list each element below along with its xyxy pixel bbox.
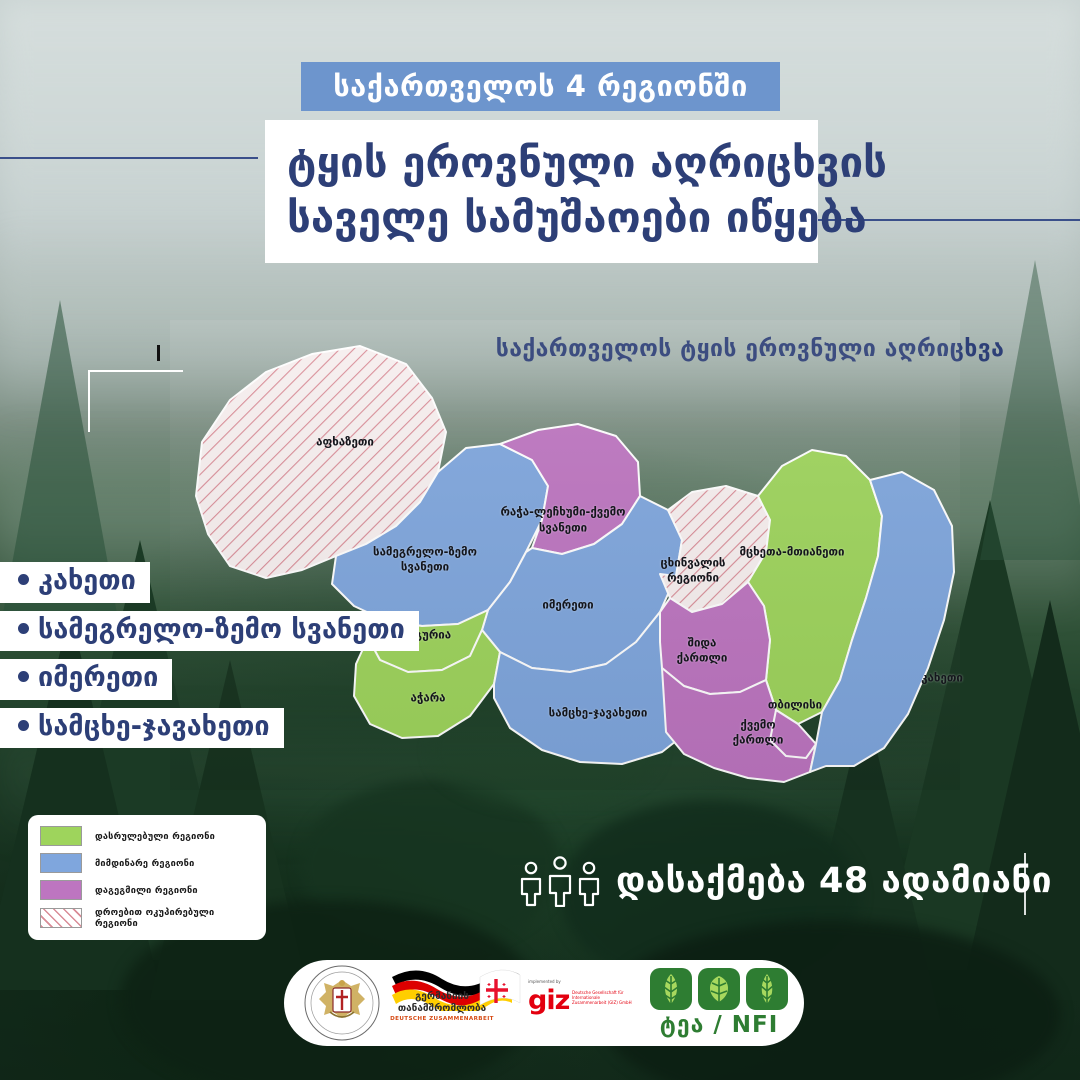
map-label: გურია [415, 628, 451, 641]
person-icon [546, 855, 574, 907]
list-item: კახეთი [0, 562, 150, 603]
map-label: ქართლი [733, 733, 784, 746]
nfi-label: ტეა / NFI [652, 1012, 786, 1038]
employment-text: დასაქმება 48 ადამიანი [616, 861, 1052, 901]
legend-label: დაგეგმილი რეგიონი [95, 885, 198, 896]
list-item-label: კახეთი [38, 565, 136, 596]
map-label: სვანეთი [539, 521, 587, 534]
list-item: იმერეთი [0, 659, 172, 700]
bullet-dot-icon [18, 574, 29, 585]
legend-label: დროებით ოკუპირებული რეგიონი [95, 907, 256, 929]
map-label: მცხეთა-მთიანეთი [739, 545, 844, 558]
regions-bullet-list: კახეთისამეგრელო-ზემო სვანეთიიმერეთისამცხ… [0, 562, 419, 756]
legend-row: დროებით ოკუპირებული რეგიონი [40, 907, 256, 929]
list-item-label: სამეგრელო-ზემო სვანეთი [38, 614, 405, 645]
ministry-of-environment-logo [300, 964, 384, 1042]
legend-swatch [40, 853, 82, 873]
map-label: შიდა [688, 636, 717, 649]
map-label: ქართლი [677, 651, 728, 664]
legend-row: დასრულებული რეგიონი [40, 826, 256, 846]
bullet-dot-icon [18, 671, 29, 682]
legend-row: მიმდინარე რეგიონი [40, 853, 256, 873]
legend-swatch [40, 908, 82, 928]
employment-stat: დასაქმება 48 ადამიანი [518, 855, 1052, 907]
moe-emblem-icon [300, 964, 384, 1042]
map-label: ცხინვალის [661, 556, 726, 569]
list-item-label: იმერეთი [38, 662, 158, 693]
map-label: რეგიონი [667, 571, 719, 584]
map-label: სამცხე-ჯავახეთი [549, 706, 648, 719]
nfi-logo: ტეა / NFI [644, 964, 790, 1042]
german-coop-subtitle: DEUTSCHE ZUSAMMENARBEIT [390, 1016, 494, 1022]
giz-logo: implemented by giz Deutsche Gesellschaft… [526, 979, 638, 1027]
bullet-dot-icon [18, 623, 29, 634]
list-item: სამცხე-ჯავახეთი [0, 708, 284, 749]
page-title-card: ტყის ეროვნული აღრიცხვის საველე სამუშაოებ… [265, 120, 818, 263]
german-coop-line-1: გერმანიის [390, 991, 494, 1003]
list-item: სამეგრელო-ზემო სვანეთი [0, 611, 419, 652]
page-title-line-2: საველე სამუშაოები იწყება [287, 191, 796, 246]
map-legend: დასრულებული რეგიონიმიმდინარე რეგიონიდაგე… [28, 815, 266, 940]
map-label: იმერეთი [542, 598, 593, 611]
legend-label: მიმდინარე რეგიონი [95, 858, 194, 869]
list-item-label: სამცხე-ჯავახეთი [38, 711, 270, 742]
map-label: რაჭა-ლეჩხუმი-ქვემო [500, 505, 625, 518]
header-kicker-badge: საქართველოს 4 რეგიონში [301, 62, 780, 111]
map-label: ქვემო [740, 718, 775, 731]
map-label: აფხაზეთი [316, 435, 374, 448]
map-label: კახეთი [921, 671, 963, 684]
nfi-leaf-icons [648, 966, 794, 1012]
legend-swatch [40, 880, 82, 900]
german-cooperation-logo: გერმანიის თანამშრომლობა DEUTSCHE ZUSAMME… [388, 967, 524, 1039]
page-title-line-1: ტყის ეროვნული აღრიცხვის [287, 136, 796, 191]
person-icon [518, 861, 544, 907]
bullet-dot-icon [18, 720, 29, 731]
legend-label: დასრულებული რეგიონი [95, 831, 215, 842]
conifer-silhouette [960, 600, 1080, 1000]
giz-implemented-by: implemented by [528, 979, 561, 984]
legend-swatch [40, 826, 82, 846]
person-icon [576, 861, 602, 907]
legend-row: დაგეგმილი რეგიონი [40, 880, 256, 900]
header-rule-left [0, 157, 258, 159]
giz-wordmark: giz [528, 987, 569, 1014]
map-label: სამეგრელო-ზემო [373, 545, 477, 558]
decorative-bracket [88, 370, 183, 432]
map-label: თბილისი [768, 698, 822, 711]
three-people-icon [518, 855, 602, 907]
footer-logo-bar: გერმანიის თანამშრომლობა DEUTSCHE ZUSAMME… [284, 960, 804, 1046]
conifer-silhouette [980, 260, 1080, 560]
decorative-tick [157, 345, 160, 361]
giz-description: Deutsche Gesellschaft für Internationale… [572, 990, 634, 1005]
header-kicker-text: საქართველოს 4 რეგიონში [333, 72, 748, 101]
german-coop-line-2: თანამშრომლობა [390, 1003, 494, 1015]
